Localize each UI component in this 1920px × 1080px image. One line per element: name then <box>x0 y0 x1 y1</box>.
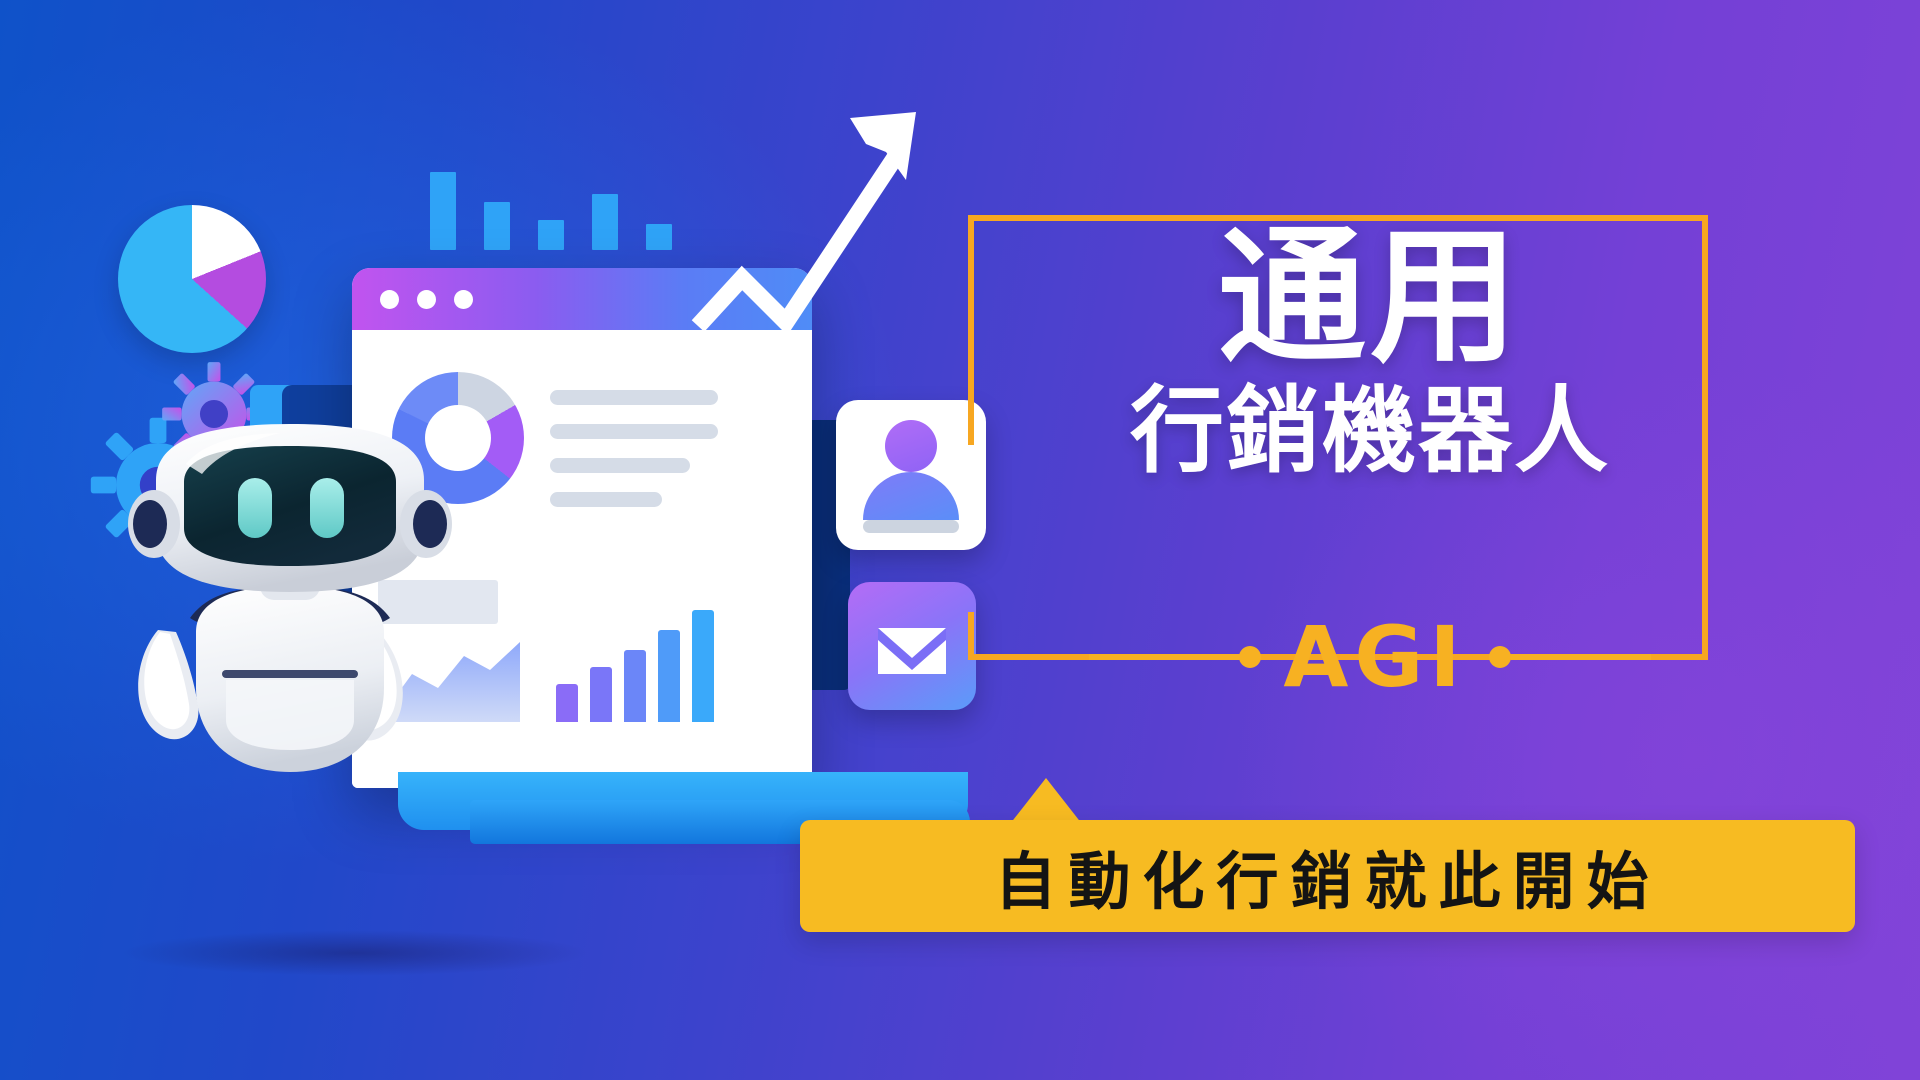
robot-ground-shadow <box>120 930 590 976</box>
dashboard-text-lines <box>550 390 718 507</box>
dashboard-bar-chart <box>556 592 714 722</box>
contact-card-icon <box>836 400 986 550</box>
top-decoration-bars <box>430 170 672 250</box>
headline-block: 通用 行銷機器人 <box>1020 222 1720 484</box>
growth-arrow-icon <box>690 100 950 340</box>
browser-dot-1 <box>380 290 399 309</box>
browser-dot-2 <box>417 290 436 309</box>
agi-label: AGI <box>1261 615 1488 699</box>
agi-dot-left <box>1239 646 1261 668</box>
headline-line-2: 行銷機器人 <box>1020 379 1720 484</box>
envelope-glyph <box>848 582 976 710</box>
contact-avatar-body <box>863 472 959 520</box>
banner-pointer-triangle <box>1010 778 1082 824</box>
robot-mascot <box>120 420 460 820</box>
pie-chart-decoration <box>118 205 266 353</box>
agi-row: AGI <box>1020 615 1720 699</box>
mail-envelope-icon <box>848 582 976 710</box>
contact-card-line <box>863 520 959 533</box>
tagline-text: 自動化行銷就此開始 <box>994 831 1660 921</box>
contact-avatar-head <box>885 420 937 472</box>
browser-dot-3 <box>454 290 473 309</box>
agi-connector-line-right <box>1511 654 1651 660</box>
orange-frame-left-lower <box>968 612 974 660</box>
agi-connector-line-left <box>1089 654 1239 660</box>
banner-canvas: 通用 行銷機器人 AGI 自動化行銷就此開始 <box>0 0 1920 1080</box>
headline-line-1: 通用 <box>1020 222 1720 373</box>
agi-dot-right <box>1489 646 1511 668</box>
tagline-banner: 自動化行銷就此開始 <box>800 820 1855 932</box>
orange-frame-left-upper <box>968 215 974 445</box>
